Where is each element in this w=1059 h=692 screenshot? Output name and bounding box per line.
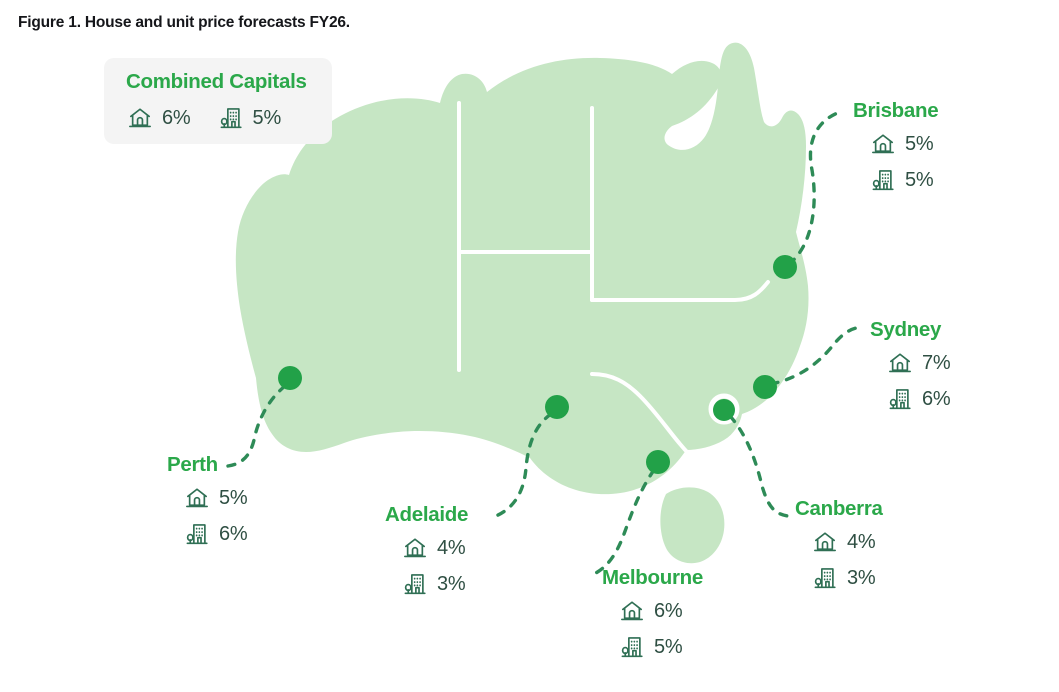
perth-unit-metric: 6% [183,520,248,548]
house-icon [618,597,646,625]
melbourne-unit-metric: 5% [618,633,703,661]
city-label-perth: Perth [167,453,248,477]
legend-house-value: 6% [162,107,191,130]
metrics-adelaide: 4% 3% [385,534,468,598]
house-icon [183,484,211,512]
apartment-icon [217,104,245,132]
callout-sydney: Sydney 7% [870,318,951,413]
apartment-icon [618,633,646,661]
brisbane-house-value: 5% [905,133,934,156]
metrics-sydney: 7% 6% [870,349,951,413]
adelaide-house-value: 4% [437,537,466,560]
city-dot-perth[interactable] [278,366,302,390]
connector-canberra [730,416,788,516]
legend-title: Combined Capitals [126,70,307,94]
canberra-unit-metric: 3% [811,564,883,592]
city-dot-sydney[interactable] [753,375,777,399]
metrics-canberra: 4% 3% [795,528,883,592]
combined-capitals-legend: Combined Capitals 6% [104,58,332,144]
melbourne-unit-value: 5% [654,636,683,659]
canberra-house-metric: 4% [811,528,883,556]
callout-canberra: Canberra 4% [795,497,883,592]
adelaide-unit-value: 3% [437,573,466,596]
legend-unit-value: 5% [253,107,282,130]
perth-house-value: 5% [219,487,248,510]
house-icon [126,104,154,132]
city-label-brisbane: Brisbane [853,99,938,123]
canberra-house-value: 4% [847,531,876,554]
adelaide-house-metric: 4% [401,534,468,562]
melbourne-house-value: 6% [654,600,683,623]
legend-metrics: 6% 5% [126,104,281,132]
city-label-canberra: Canberra [795,497,883,521]
city-label-adelaide: Adelaide [385,503,468,527]
sydney-unit-value: 6% [922,388,951,411]
apartment-icon [886,385,914,413]
house-icon [886,349,914,377]
adelaide-unit-metric: 3% [401,570,468,598]
callout-brisbane: Brisbane 5% [853,99,938,194]
sydney-house-value: 7% [922,352,951,375]
brisbane-house-metric: 5% [869,130,938,158]
apartment-icon [811,564,839,592]
house-icon [401,534,429,562]
sydney-unit-metric: 6% [886,385,951,413]
house-icon [811,528,839,556]
metrics-perth: 5% 6% [167,484,248,548]
city-dot-brisbane[interactable] [773,255,797,279]
canberra-unit-value: 3% [847,567,876,590]
metrics-melbourne: 6% 5% [602,597,703,661]
legend-house-metric: 6% [126,104,191,132]
callout-adelaide: Adelaide 4% [385,503,468,598]
brisbane-unit-value: 5% [905,169,934,192]
figure-container: Figure 1. House and unit price forecasts… [0,0,1059,692]
legend-unit-metric: 5% [217,104,282,132]
perth-house-metric: 5% [183,484,248,512]
callout-perth: Perth 5% [167,453,248,548]
metrics-brisbane: 5% 5% [853,130,938,194]
melbourne-house-metric: 6% [618,597,703,625]
house-icon [869,130,897,158]
tasmania-shape [660,487,724,563]
city-label-melbourne: Melbourne [602,566,703,590]
city-dot-melbourne[interactable] [646,450,670,474]
apartment-icon [869,166,897,194]
city-dot-adelaide[interactable] [545,395,569,419]
perth-unit-value: 6% [219,523,248,546]
apartment-icon [401,570,429,598]
city-dot-canberra[interactable] [713,399,735,421]
callout-melbourne: Melbourne 6% [602,566,703,661]
sydney-house-metric: 7% [886,349,951,377]
apartment-icon [183,520,211,548]
brisbane-unit-metric: 5% [869,166,938,194]
city-label-sydney: Sydney [870,318,951,342]
